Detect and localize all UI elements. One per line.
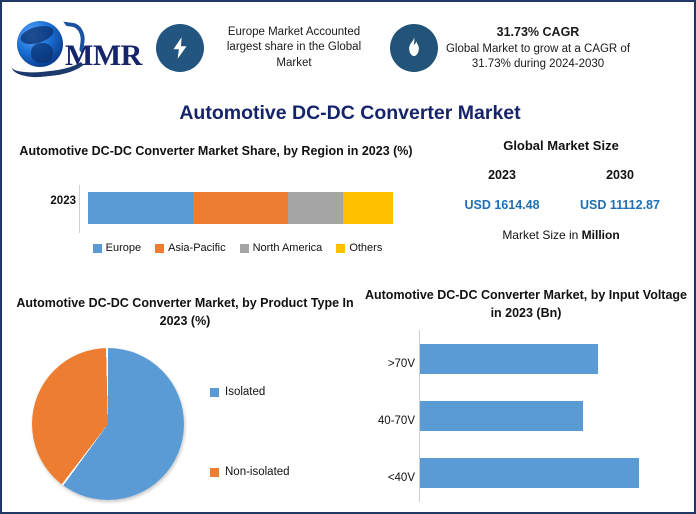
market-size-2030-value: USD 11112.87 [561,198,679,212]
legend-item-non-isolated: Non-isolated [210,466,290,478]
legend-swatch-europe [93,244,102,253]
legend-item-europe: Europe [93,242,141,254]
market-size-2030-year: 2030 [561,168,679,182]
legend-swatch-isolated [210,388,219,397]
legend-label-non-isolated: Non-isolated [225,466,290,478]
infographic-root: MMR Europe Market Accounted largest shar… [0,0,696,514]
legend-item-asia-pacific: Asia-Pacific [155,242,225,254]
header-badge-europe-text: Europe Market Accounted largest share in… [214,25,374,71]
market-size-2023-value: USD 1614.48 [443,198,561,212]
legend-label-europe: Europe [106,242,141,254]
legend-item-north-america: North America [240,242,323,254]
chart-product-type-plot [32,348,184,500]
chart-product-type-title: Automotive DC-DC Converter Market, by Pr… [10,294,360,330]
chart-region-share-plot [79,185,394,233]
brand-logo: MMR [2,2,150,94]
global-market-size-title: Global Market Size [430,138,692,153]
market-size-unit-note: Market Size in Million [430,228,692,242]
global-market-size-years: 2023 USD 1614.48 2030 USD 11112.87 [430,168,692,212]
market-size-2030: 2030 USD 11112.87 [561,168,679,212]
bar-lt40v [420,458,639,488]
global-market-size-panel: Global Market Size 2023 USD 1614.48 2030… [430,138,692,262]
page-title: Automotive DC-DC Converter Market [2,102,696,125]
market-size-unit-value: Million [582,228,620,242]
chart-input-voltage-title: Automotive DC-DC Converter Market, by In… [360,286,692,322]
legend-item-isolated: Isolated [210,386,265,398]
chart-region-share-legend: Europe Asia-Pacific North America Others [65,242,410,254]
lightning-bolt-icon [156,24,204,72]
chart-input-voltage: Automotive DC-DC Converter Market, by In… [360,284,692,512]
legend-label-north-america: North America [253,242,323,254]
market-size-2023: 2023 USD 1614.48 [443,168,561,212]
header-badge-cagr: 31.73% CAGR Global Market to grow at a C… [390,24,632,72]
chart-region-share: Automotive DC-DC Converter Market Share,… [10,142,422,262]
segment-others [343,192,393,224]
chart-input-voltage-plot [419,330,682,502]
brand-name: MMR [65,39,142,73]
flame-icon [390,24,438,72]
header-row: MMR Europe Market Accounted largest shar… [2,2,696,94]
legend-label-isolated: Isolated [225,386,265,398]
header-badge-cagr-text: 31.73% CAGR Global Market to grow at a C… [444,24,632,72]
header-badge-europe: Europe Market Accounted largest share in… [156,24,374,72]
market-size-unit-prefix: Market Size in [502,228,581,242]
cagr-description: Global Market to grow at a CAGR of 31.73… [446,43,630,70]
legend-swatch-others [336,244,345,253]
market-size-2023-year: 2023 [443,168,561,182]
legend-swatch-north-america [240,244,249,253]
bar-row-lt40v [420,445,682,502]
bar-40-70v [420,401,583,431]
cagr-heading: 31.73% CAGR [444,24,632,41]
chart-input-voltage-category-0: >70V [360,358,415,370]
chart-product-type: Automotive DC-DC Converter Market, by Pr… [10,292,360,512]
bar-row-40-70v [420,387,682,444]
legend-swatch-non-isolated [210,468,219,477]
segment-europe [88,192,193,224]
legend-swatch-asia-pacific [155,244,164,253]
chart-product-type-legend: Isolated Non-isolated [206,348,356,500]
legend-label-others: Others [349,242,382,254]
segment-asia-pacific [193,192,288,224]
pie-slices [32,348,184,500]
chart-input-voltage-category-2: <40V [360,472,415,484]
legend-item-others: Others [336,242,382,254]
bar-row-gt70v [420,330,682,387]
chart-region-share-category-label: 2023 [26,195,76,207]
stacked-bar [88,192,393,224]
segment-north-america [288,192,343,224]
chart-region-share-title: Automotive DC-DC Converter Market Share,… [10,142,422,160]
legend-label-asia-pacific: Asia-Pacific [168,242,225,254]
bar-gt70v [420,344,598,374]
chart-input-voltage-category-1: 40-70V [360,415,415,427]
